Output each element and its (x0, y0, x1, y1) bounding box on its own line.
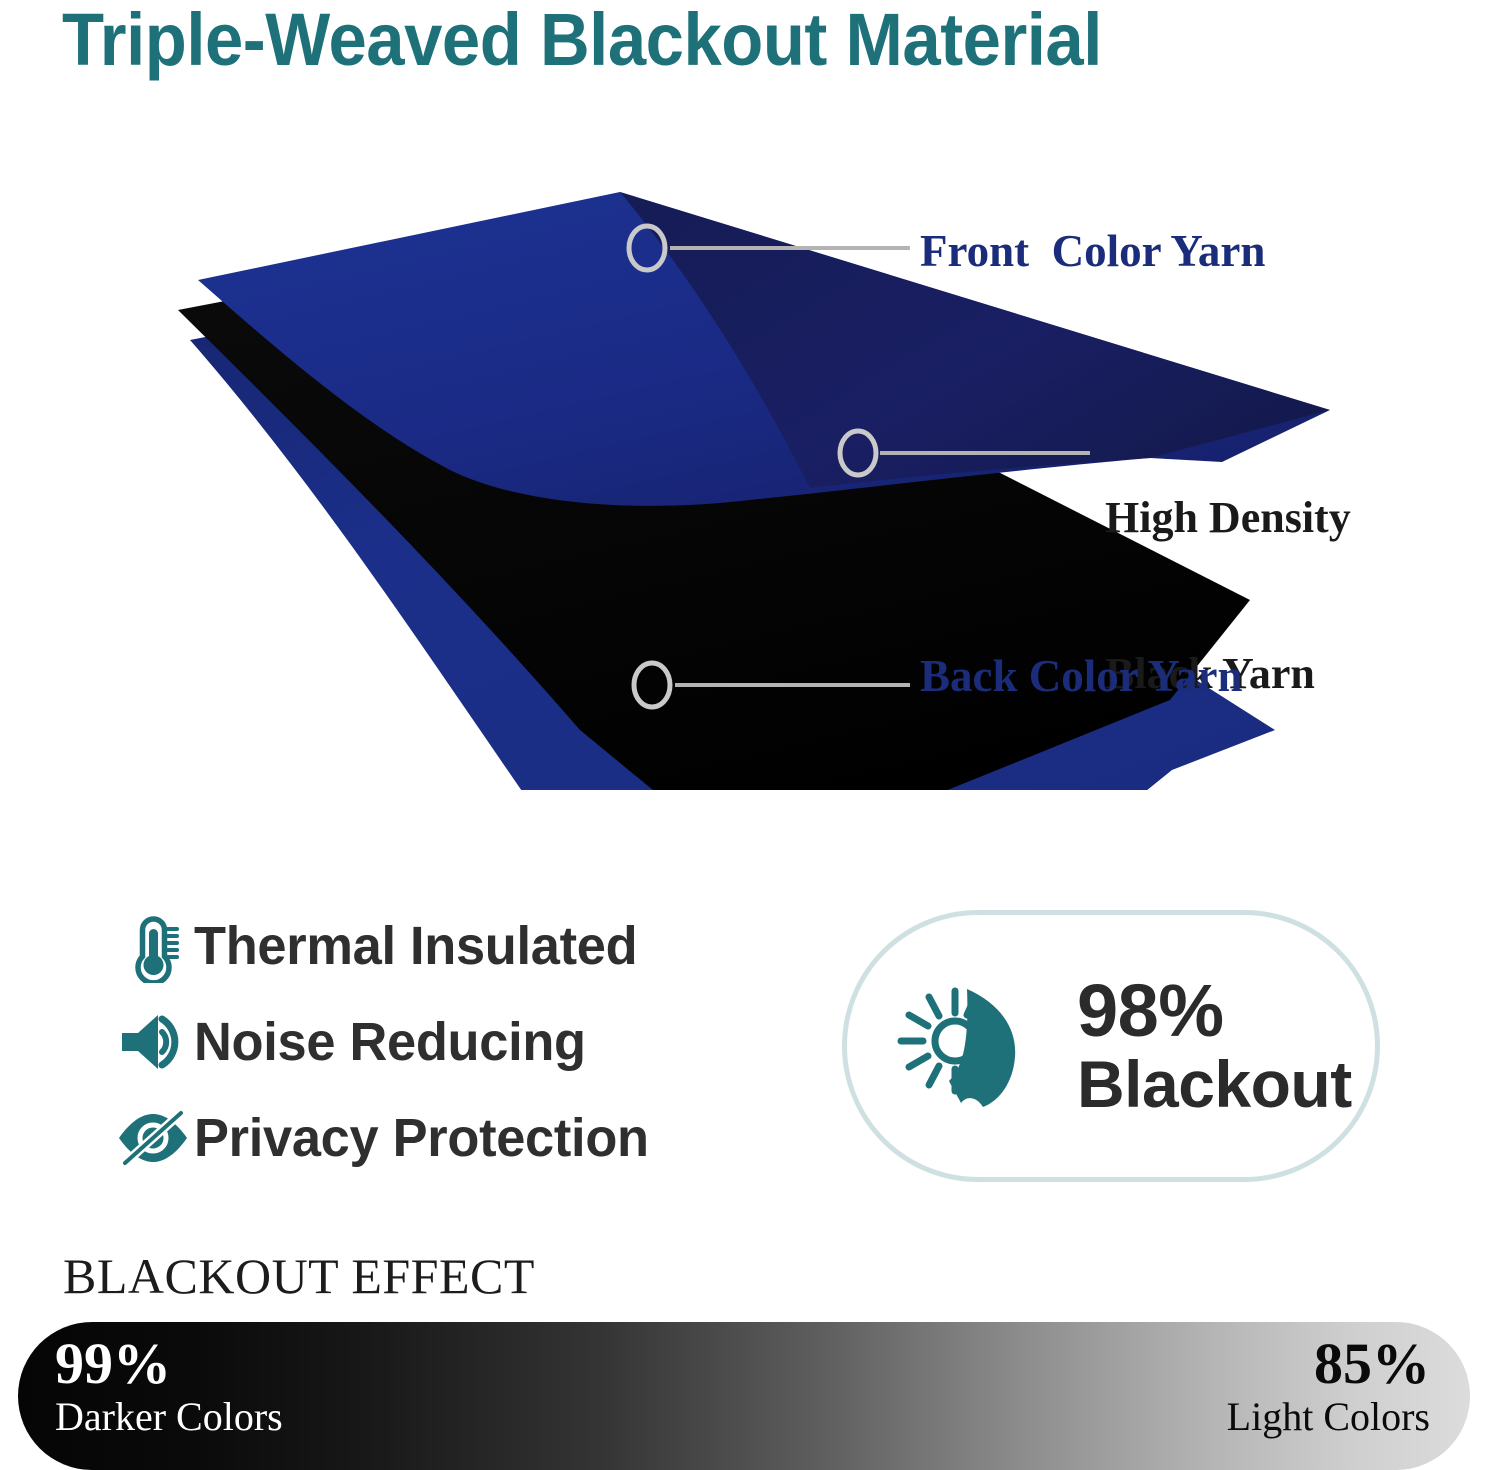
blackout-badge-text: 98% Blackout (1077, 973, 1352, 1119)
blackout-percent: 98% (1077, 973, 1352, 1050)
feature-item-noise-reducing: Noise Reducing (112, 994, 772, 1090)
sun-behind-curtain-icon (847, 971, 1077, 1121)
page-title: Triple-Weaved Blackout Material (62, 0, 1364, 86)
blackout-effect-light-colors: 85% Light Colors (1227, 1334, 1430, 1440)
blackout-effect-heading: BLACKOUT EFFECT (63, 1248, 535, 1304)
speaker-volume-icon (112, 1011, 194, 1073)
callout-label-back: Back Color Yarn (920, 650, 1243, 702)
feature-label-thermal-insulated: Thermal Insulated (194, 917, 637, 975)
blackout-effect-darker-colors: 99% Darker Colors (55, 1334, 283, 1440)
darker-colors-caption: Darker Colors (55, 1394, 283, 1440)
light-colors-percent: 85% (1227, 1334, 1430, 1394)
eye-slash-icon (112, 1110, 194, 1166)
callout-label-middle-line1: High Density (1105, 492, 1351, 544)
blackout-label: Blackout (1077, 1050, 1352, 1119)
feature-list: Thermal Insulated Noise Reducing (112, 898, 772, 1186)
feature-item-thermal-insulated: Thermal Insulated (112, 898, 772, 994)
feature-item-privacy-protection: Privacy Protection (112, 1090, 772, 1186)
infographic-canvas: Triple-Weaved Blackout Material (0, 0, 1492, 1436)
callout-label-front: Front Color Yarn (920, 225, 1265, 277)
blackout-badge: 98% Blackout (842, 910, 1380, 1182)
callout-label-middle: High Density Black Yarn (1105, 388, 1351, 804)
thermometer-icon (112, 909, 194, 983)
darker-colors-percent: 99% (55, 1334, 283, 1394)
feature-label-privacy-protection: Privacy Protection (194, 1109, 649, 1167)
feature-label-noise-reducing: Noise Reducing (194, 1013, 586, 1071)
light-colors-caption: Light Colors (1227, 1394, 1430, 1440)
